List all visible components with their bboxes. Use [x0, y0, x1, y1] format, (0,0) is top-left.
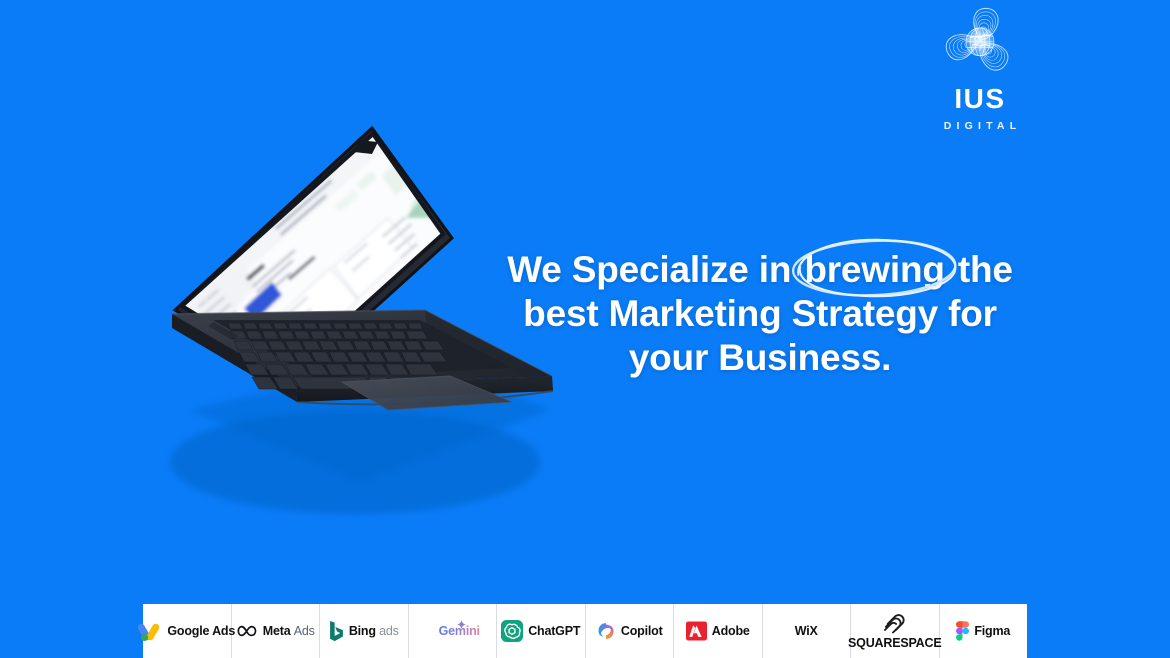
brand-logo[interactable]: IUS DIGITAL — [900, 4, 1060, 132]
logo-cell-squarespace[interactable]: SQUARESPACE — [851, 604, 940, 658]
meta-infinity-icon — [236, 624, 258, 638]
logo-label: ChatGPT — [528, 624, 580, 638]
headline-highlight-text: brewing — [804, 249, 944, 290]
logo-cell-chatgpt[interactable]: ChatGPT — [497, 604, 586, 658]
headline-line-1: We Specialize in brewing the — [470, 248, 1050, 292]
ius-globe-triple-swoosh-icon — [937, 4, 1023, 83]
headline-text-after: the — [948, 249, 1013, 290]
logo-cell-gemini[interactable]: Gemini — [409, 604, 498, 658]
logo-label-secondary: Ads — [294, 624, 315, 638]
logo-label: WiX — [795, 624, 818, 638]
hero-banner: IUS DIGITAL — [0, 0, 1170, 658]
logo-label: Figma — [974, 624, 1010, 638]
headline-highlight-brewing: brewing — [801, 248, 947, 292]
logo-label: Meta Ads — [263, 624, 315, 638]
bing-b-icon — [329, 620, 344, 642]
logo-label: Bing ads — [349, 624, 399, 638]
brand-name: IUS — [954, 85, 1005, 113]
logo-cell-wix[interactable]: WiX — [763, 604, 852, 658]
logo-cell-bing-ads[interactable]: Bing ads — [320, 604, 409, 658]
headline-text-before: We Specialize in — [507, 249, 801, 290]
partner-logo-strip: Google Ads Meta Ads Bing ads Gemini — [143, 604, 1027, 658]
logo-cell-copilot[interactable]: Copilot — [586, 604, 675, 658]
logo-cell-meta-ads[interactable]: Meta Ads — [232, 604, 321, 658]
logo-label: Copilot — [621, 624, 663, 638]
logo-label-primary: Bing — [349, 624, 376, 638]
logo-cell-adobe[interactable]: Adobe — [674, 604, 763, 658]
gemini-sparkle-icon — [457, 620, 466, 629]
logo-label: Adobe — [712, 624, 750, 638]
headline-line-2: best Marketing Strategy for — [470, 292, 1050, 336]
adobe-a-icon — [686, 621, 707, 641]
brand-subtitle: DIGITAL — [939, 120, 1022, 132]
page-title: We Specialize in brewing the best Market… — [470, 248, 1050, 380]
openai-knot-icon — [501, 620, 523, 642]
google-ads-icon — [138, 620, 162, 642]
headline-line-3: your Business. — [470, 336, 1050, 380]
copilot-ribbon-icon — [596, 621, 616, 641]
logo-cell-google-ads[interactable]: Google Ads — [143, 604, 232, 658]
logo-label: SQUARESPACE — [848, 636, 941, 650]
squarespace-loops-icon — [883, 612, 907, 634]
logo-label-primary: Meta — [263, 624, 291, 638]
logo-cell-figma[interactable]: Figma — [940, 604, 1028, 658]
logo-label-secondary: ads — [379, 624, 399, 638]
logo-label: Google Ads — [167, 624, 235, 638]
figma-icon — [956, 621, 969, 641]
